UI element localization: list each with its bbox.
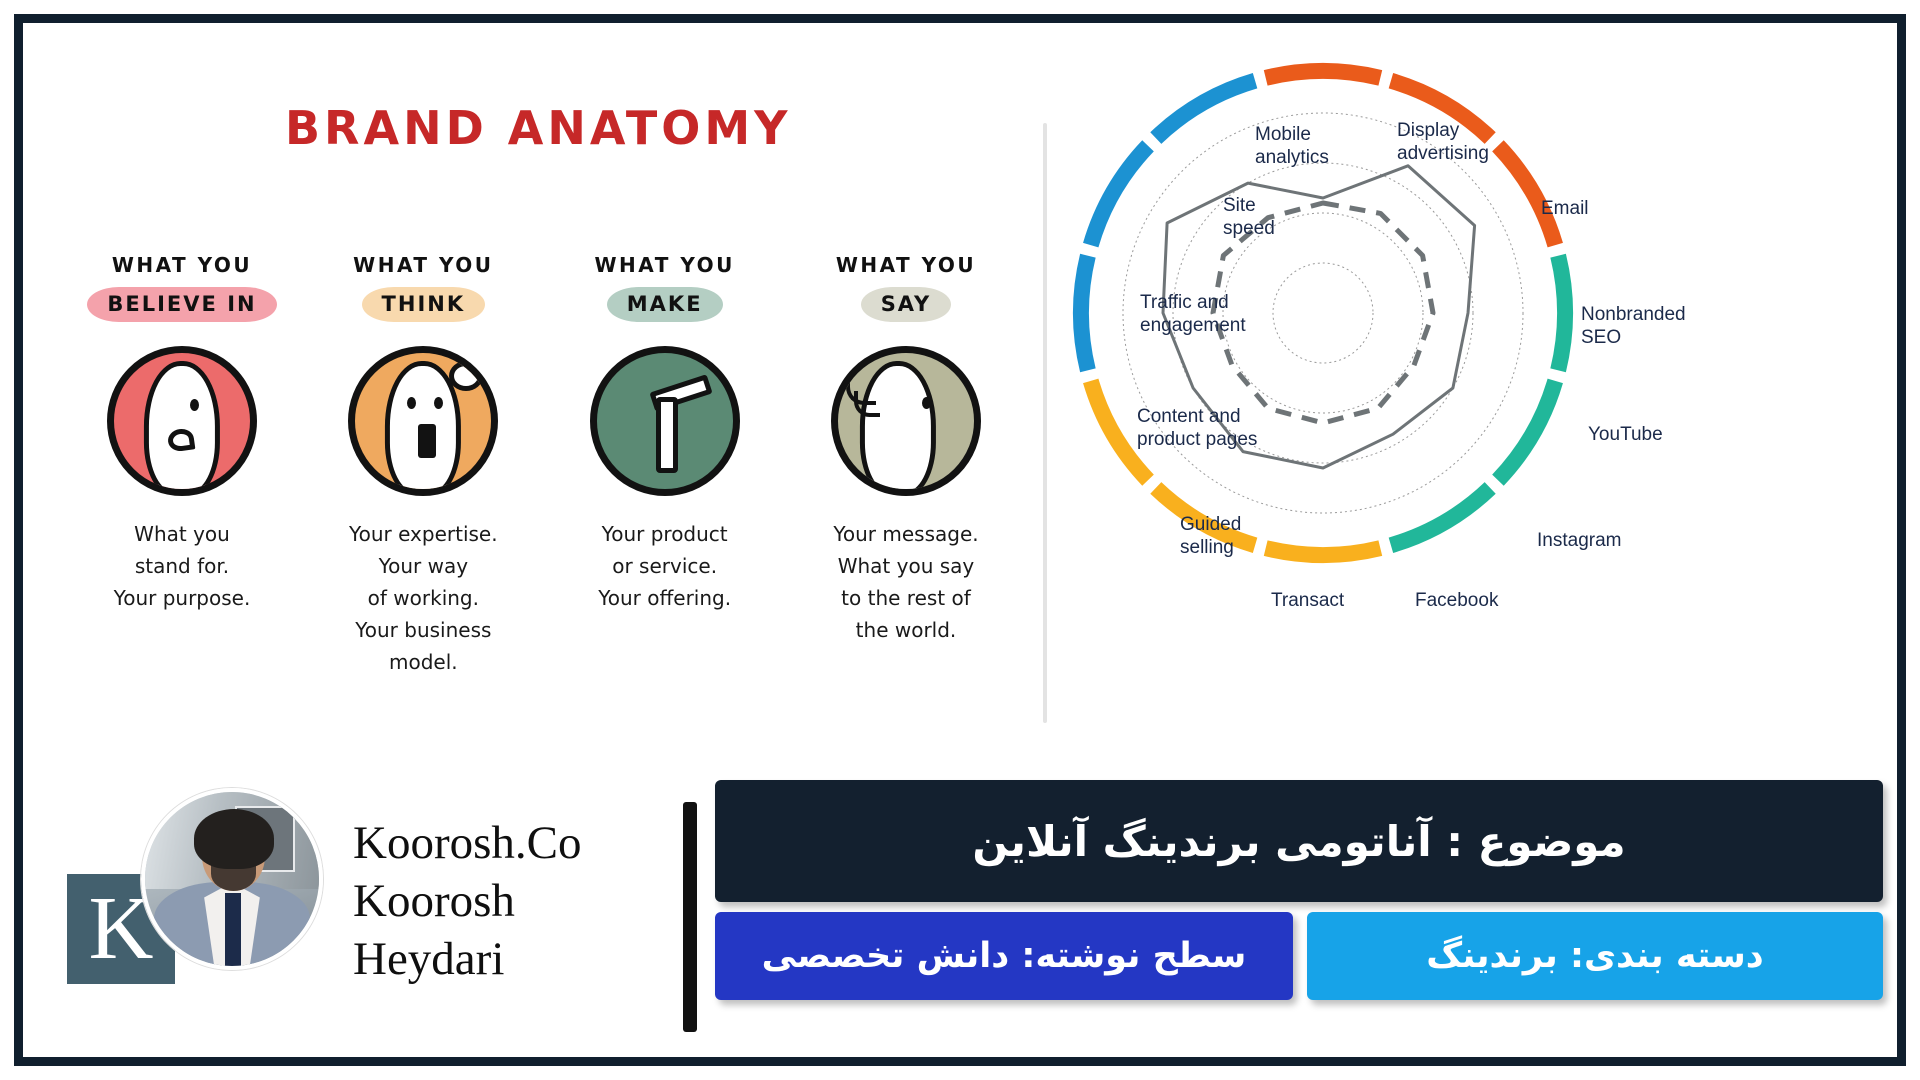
- ring-segment-facebook[interactable]: [1389, 482, 1496, 553]
- column-kicker: WHAT YOU: [552, 253, 778, 277]
- chart-label-site-speed: Site speed: [1223, 194, 1275, 240]
- topic-text: موضوع : آناتومی برندینگ آنلاین: [972, 817, 1625, 866]
- column-kicker: WHAT YOU: [793, 253, 1019, 277]
- ring-segment-display-advertising[interactable]: [1264, 63, 1382, 86]
- column-highlight: THINK: [362, 287, 486, 322]
- ring-segment-instagram[interactable]: [1492, 379, 1563, 486]
- chart-label-nonbranded-seo: Nonbranded SEO: [1581, 303, 1686, 349]
- content-area: BRAND ANATOMY WHAT YOU BELIEVE IN What y…: [23, 23, 1897, 778]
- footer-divider: [683, 802, 697, 1032]
- section-divider: [1043, 123, 1047, 723]
- online-branding-radar-chart: Mobile analyticsDisplay advertisingEmail…: [1053, 23, 1908, 778]
- level-text: سطح نوشته: دانش تخصصی: [762, 936, 1247, 976]
- column-highlight: BELIEVE IN: [87, 287, 276, 322]
- chart-label-mobile-analytics: Mobile analytics: [1255, 123, 1329, 169]
- thinking-face-icon: [348, 346, 498, 496]
- column-highlight-wrap: BELIEVE IN: [69, 287, 295, 322]
- poster-column-believe: WHAT YOU BELIEVE IN What you stand for. …: [69, 253, 295, 678]
- chart-label-email: Email: [1541, 197, 1589, 220]
- chart-label-facebook: Facebook: [1415, 589, 1498, 612]
- brand-anatomy-poster: BRAND ANATOMY WHAT YOU BELIEVE IN What y…: [23, 23, 1043, 778]
- poster-columns: WHAT YOU BELIEVE IN What you stand for. …: [69, 253, 1019, 678]
- chart-label-traffic-and-engagement: Traffic and engagement: [1140, 291, 1246, 337]
- poster-column-think: WHAT YOU THINK Your expertise. Your way …: [310, 253, 536, 678]
- poster-column-make: WHAT YOU MAKE Your product or service. Y…: [552, 253, 778, 678]
- column-description: Your message. What you say to the rest o…: [793, 518, 1019, 646]
- level-badge[interactable]: سطح نوشته: دانش تخصصی: [715, 912, 1293, 1000]
- ring-segment-site-speed[interactable]: [1083, 140, 1154, 247]
- column-highlight-wrap: SAY: [793, 287, 1019, 322]
- chart-label-instagram: Instagram: [1537, 529, 1621, 552]
- chart-label-display-advertising: Display advertising: [1397, 119, 1489, 165]
- ring-segment-youtube[interactable]: [1550, 254, 1573, 372]
- ring-segment-mobile-analytics[interactable]: [1150, 73, 1257, 144]
- category-text: دسته بندی: برندینگ: [1426, 936, 1764, 976]
- poster-column-say: WHAT YOU SAY Your message. What you say …: [793, 253, 1019, 678]
- footer-area: K Koorosh.Co Koorosh Heydari موضوع : آنا…: [23, 772, 1897, 1057]
- slide-frame: BRAND ANATOMY WHAT YOU BELIEVE IN What y…: [14, 14, 1906, 1066]
- author-name: Koorosh Heydari: [353, 872, 613, 988]
- speaking-face-icon: [831, 346, 981, 496]
- column-highlight: MAKE: [607, 287, 723, 322]
- avatar: [141, 788, 323, 970]
- topic-banner: موضوع : آناتومی برندینگ آنلاین: [715, 780, 1883, 902]
- grid-ring: [1223, 213, 1423, 413]
- ring-segment-traffic-and-engagement[interactable]: [1073, 254, 1096, 372]
- heart-face-icon: [107, 346, 257, 496]
- column-description: Your product or service. Your offering.: [552, 518, 778, 614]
- ring-segment-transact[interactable]: [1264, 540, 1382, 563]
- column-kicker: WHAT YOU: [310, 253, 536, 277]
- site-name: Koorosh.Co: [353, 814, 613, 872]
- column-description: What you stand for. Your purpose.: [69, 518, 295, 614]
- hammer-hand-icon: [590, 346, 740, 496]
- author-branding: K Koorosh.Co Koorosh Heydari: [53, 784, 613, 1034]
- column-kicker: WHAT YOU: [69, 253, 295, 277]
- ring-segment-nonbranded-seo[interactable]: [1492, 140, 1563, 247]
- column-highlight: SAY: [861, 287, 952, 322]
- chart-label-youtube: YouTube: [1588, 423, 1663, 446]
- chart-label-guided-selling: Guided selling: [1180, 513, 1241, 559]
- chart-label-content-and-product-pages: Content and product pages: [1137, 405, 1257, 451]
- column-highlight-wrap: THINK: [310, 287, 536, 322]
- column-highlight-wrap: MAKE: [552, 287, 778, 322]
- grid-ring: [1273, 263, 1373, 363]
- brand-text-block: Koorosh.Co Koorosh Heydari: [353, 814, 613, 988]
- column-description: Your expertise. Your way of working. You…: [310, 518, 536, 678]
- poster-title: BRAND ANATOMY: [285, 101, 791, 155]
- slide-root: BRAND ANATOMY WHAT YOU BELIEVE IN What y…: [0, 0, 1920, 1080]
- chart-label-transact: Transact: [1271, 589, 1344, 612]
- category-badge[interactable]: دسته بندی: برندینگ: [1307, 912, 1883, 1000]
